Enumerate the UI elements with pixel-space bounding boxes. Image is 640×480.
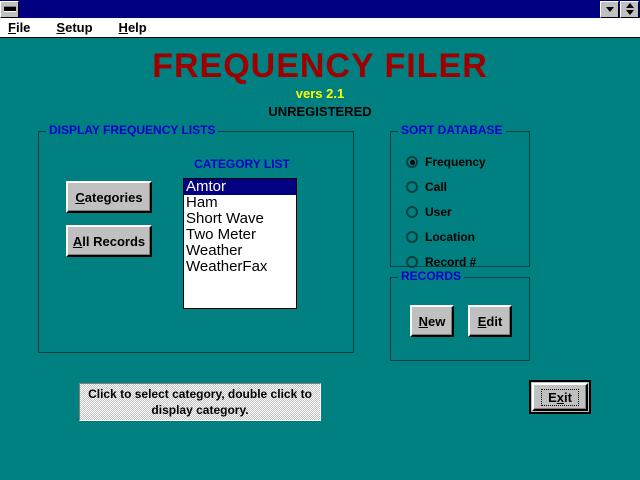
window-menu-icon <box>4 6 16 12</box>
status-hint-box: Click to select category, double click t… <box>79 383 321 421</box>
display-group-legend: DISPLAY FREQUENCY LISTS <box>46 124 218 136</box>
radio-label: Location <box>425 231 475 243</box>
restore-updown-icon <box>626 3 634 15</box>
version-label: vers 2.1 <box>0 87 640 100</box>
radio-sort-record-number[interactable]: Record # <box>406 256 476 268</box>
radio-button-icon <box>406 156 418 168</box>
exit-button-face[interactable]: Exit <box>532 383 588 411</box>
exit-button-label: Exit <box>541 389 579 406</box>
registration-status: UNREGISTERED <box>0 105 640 118</box>
list-item[interactable]: Short Wave <box>184 211 296 227</box>
sort-group-legend: SORT DATABASE <box>398 124 506 136</box>
radio-label: Record # <box>425 256 476 268</box>
list-item[interactable]: WeatherFax <box>184 259 296 275</box>
all-records-button[interactable]: All Records <box>66 225 152 257</box>
edit-record-button[interactable]: Edit <box>468 305 512 337</box>
radio-button-icon <box>406 181 418 193</box>
exit-button[interactable]: Exit <box>529 380 591 414</box>
client-area: FREQUENCY FILER vers 2.1 UNREGISTERED DI… <box>0 39 640 480</box>
list-item[interactable]: Weather <box>184 243 296 259</box>
new-record-button[interactable]: New <box>410 305 454 337</box>
radio-label: Call <box>425 181 447 193</box>
sort-database-group: SORT DATABASE <box>390 131 530 267</box>
menu-bar: File Setup Help <box>0 18 640 38</box>
window-controls <box>600 1 639 18</box>
window-title-bar <box>0 0 640 18</box>
triangle-down-icon <box>606 7 614 12</box>
minimize-button[interactable] <box>600 1 619 18</box>
status-hint-text: Click to select category, double click t… <box>80 386 320 418</box>
radio-sort-frequency[interactable]: Frequency <box>406 156 486 168</box>
menu-item-help[interactable]: Help <box>119 21 147 34</box>
radio-label: Frequency <box>425 156 486 168</box>
categories-button[interactable]: Categories <box>66 181 152 213</box>
list-item[interactable]: Two Meter <box>184 227 296 243</box>
radio-sort-user[interactable]: User <box>406 206 452 218</box>
list-item[interactable]: Amtor <box>184 179 296 195</box>
category-list-label: CATEGORY LIST <box>182 158 302 170</box>
radio-button-icon <box>406 256 418 268</box>
page-title: FREQUENCY FILER <box>0 49 640 83</box>
category-listbox[interactable]: Amtor Ham Short Wave Two Meter Weather W… <box>183 178 297 309</box>
menu-item-file[interactable]: File <box>8 21 30 34</box>
restore-button[interactable] <box>620 1 639 18</box>
list-item[interactable]: Ham <box>184 195 296 211</box>
records-group-legend: RECORDS <box>398 270 464 282</box>
radio-sort-location[interactable]: Location <box>406 231 475 243</box>
radio-sort-call[interactable]: Call <box>406 181 447 193</box>
radio-button-icon <box>406 231 418 243</box>
menu-item-setup[interactable]: Setup <box>56 21 92 34</box>
radio-label: User <box>425 206 452 218</box>
radio-button-icon <box>406 206 418 218</box>
window-menu-button[interactable] <box>0 1 19 18</box>
